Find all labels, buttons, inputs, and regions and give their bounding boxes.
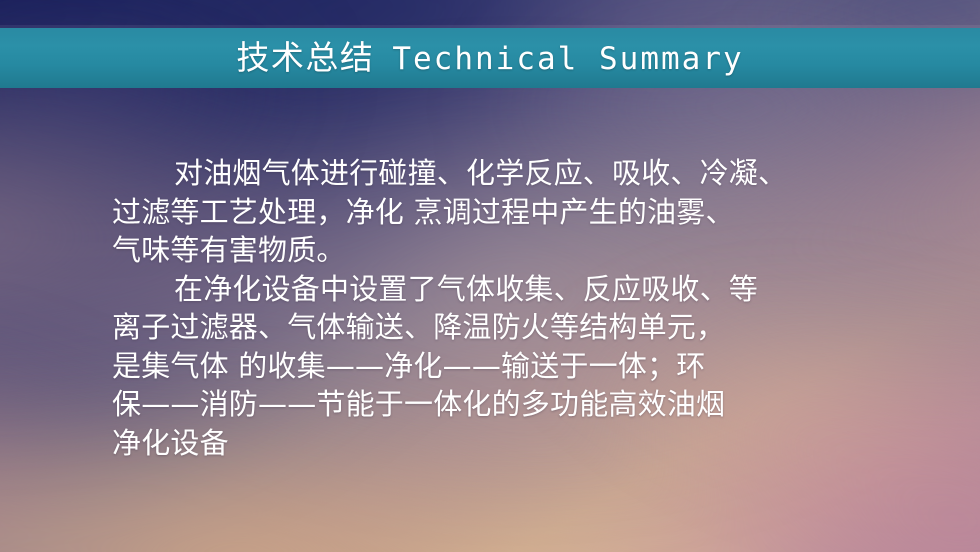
body-paragraph-2-line-3: 是集气体 的收集——净化——输送于一体；环 (112, 347, 902, 386)
slide-title-chinese: 技术总结 (236, 38, 392, 77)
slide-title-band: 技术总结 Technical Summary (0, 28, 980, 88)
body-line-text: 在净化设备中设置了气体收集、反应吸收、等 (174, 272, 758, 306)
body-line-text: 保——消防——节能于一体化的多功能高效油烟 (112, 387, 725, 421)
body-line-text: 过滤等工艺处理，净化 烹调过程中产生的油雾、 (112, 195, 735, 229)
presentation-slide: 技术总结 Technical Summary 对油烟气体进行碰撞、化学反应、吸收… (0, 0, 980, 552)
body-paragraph-1-line-3: 气味等有害物质。 (112, 231, 902, 270)
body-paragraph-2-line-1: 在净化设备中设置了气体收集、反应吸收、等 (112, 270, 902, 309)
slide-title: 技术总结 Technical Summary (236, 41, 743, 75)
body-paragraph-2-line-2: 离子过滤器、气体输送、降温防火等结构单元， (112, 308, 902, 347)
body-paragraph-2-line-5: 净化设备 (112, 424, 902, 463)
slide-title-english: Technical Summary (392, 41, 743, 77)
body-line-text: 是集气体 的收集——净化——输送于一体；环 (112, 349, 705, 383)
body-line-text: 气味等有害物质。 (112, 233, 346, 267)
body-line-text: 离子过滤器、气体输送、降温防火等结构单元， (112, 310, 725, 344)
body-paragraph-2-line-4: 保——消防——节能于一体化的多功能高效油烟 (112, 385, 902, 424)
body-paragraph-1-line-2: 过滤等工艺处理，净化 烹调过程中产生的油雾、 (112, 193, 902, 232)
body-paragraph-1-line-1: 对油烟气体进行碰撞、化学反应、吸收、冷凝、 (112, 154, 902, 193)
body-line-text: 对油烟气体进行碰撞、化学反应、吸收、冷凝、 (174, 156, 787, 190)
slide-body: 对油烟气体进行碰撞、化学反应、吸收、冷凝、 过滤等工艺处理，净化 烹调过程中产生… (112, 154, 902, 462)
body-line-text: 净化设备 (112, 426, 229, 460)
